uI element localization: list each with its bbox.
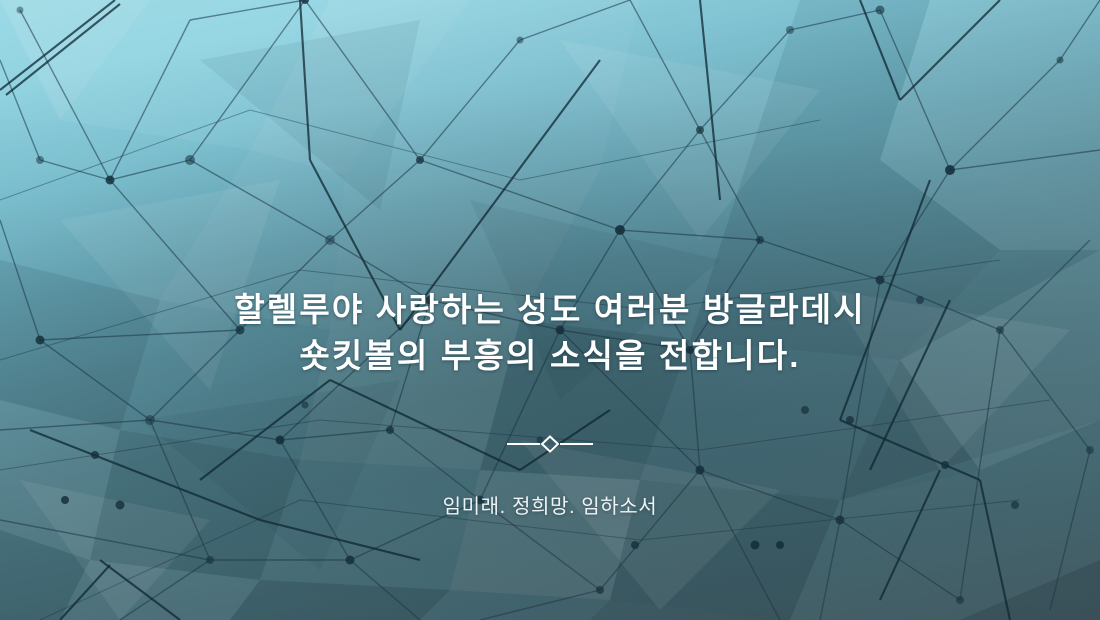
slide-content: 할렐루야 사랑하는 성도 여러분 방글라데시 숏킷볼의 부흥의 소식을 전합니다… — [0, 0, 1100, 620]
subtitle-text: 임미래. 정희망. 임하소서 — [443, 490, 658, 519]
title-slide: 할렐루야 사랑하는 성도 여러분 방글라데시 숏킷볼의 부흥의 소식을 전합니다… — [0, 0, 1100, 620]
title-block: 할렐루야 사랑하는 성도 여러분 방글라데시 숏킷볼의 부흥의 소식을 전합니다… — [70, 287, 1030, 379]
title-line-2: 숏킷볼의 부흥의 소식을 전합니다. — [70, 333, 1030, 379]
title-line-1: 할렐루야 사랑하는 성도 여러분 방글라데시 — [70, 287, 1030, 333]
diamond-divider-icon — [507, 434, 593, 454]
